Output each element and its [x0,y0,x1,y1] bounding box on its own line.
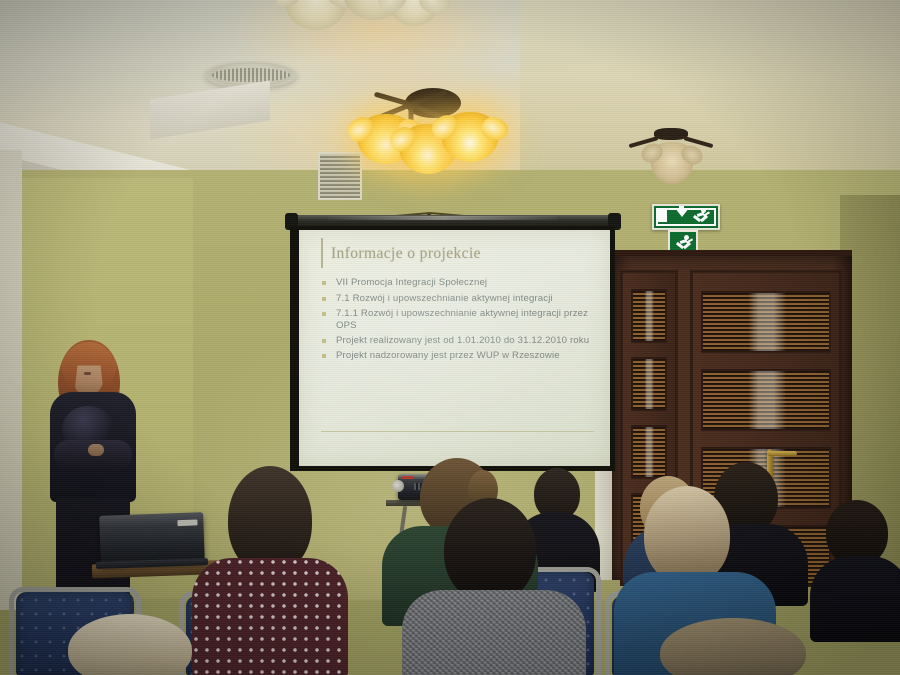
audience-member [68,614,198,675]
screen-surface: Informacje o projekcie VII Promocja Inte… [299,230,610,466]
door-glass-panel [701,291,831,353]
bullet-square-icon [322,339,326,343]
slide-bullet-item: 7.1.1 Rozwój i upowszechnianie aktywnej … [321,308,594,332]
bullet-square-icon [322,281,326,285]
presenter-hand [88,444,104,456]
slide-title: Informacje o projekcie [331,244,594,263]
audience-shoulders [402,590,586,675]
door-glass-panel [701,369,831,431]
presentation-room-photo: Informacje o projekcie VII Promocja Inte… [0,0,900,675]
ceiling-lamp-upper [285,0,425,42]
audience-head [444,498,536,602]
slide: Informacje o projekcie VII Promocja Inte… [299,230,610,466]
slide-bullet-item: Projekt nadzorowany jest przez WUP w Rze… [321,350,594,362]
audience-member [660,618,810,675]
bullet-square-icon [322,297,326,301]
laptop-badge [177,519,197,526]
door-glass-panel [631,289,667,343]
exit-door-icon [658,209,667,222]
bullet-text: VII Promocja Integracji Społecznej [336,277,487,288]
exit-sign [652,204,720,230]
projection-screen: Informacje o projekcie VII Promocja Inte… [290,226,615,471]
slide-bullet-item: 7.1 Rozwój i upowszechnianie aktywnej in… [321,293,594,305]
left-wall-pillar [0,150,22,610]
running-man-icon-small [675,235,693,251]
wall-sconce-lamp [628,128,718,188]
door-glass-panel [631,357,667,411]
slide-bullet-list: VII Promocja Integracji Społecznej 7.1 R… [321,277,594,362]
audience-head [660,618,806,675]
bullet-square-icon [322,312,326,316]
running-man-icon [692,208,710,224]
ceiling-lamp-main [355,88,505,168]
audience-member [208,466,332,675]
slide-title-block: Informacje o projekcie [321,244,594,263]
audience-member [818,500,900,640]
audience-head [68,614,192,675]
audience-member [418,498,566,675]
audience-head [644,486,730,584]
door-handle-lever[interactable] [767,451,797,456]
audience-shoulders [810,556,900,642]
bullet-text: 7.1.1 Rozwój i upowszechnianie aktywnej … [336,308,588,331]
bullet-text: 7.1 Rozwój i upowszechnianie aktywnej in… [336,293,553,304]
audience-shoulders [192,558,348,675]
slide-title-accent-bar [321,238,323,268]
bullet-square-icon [322,354,326,358]
slide-bullet-item: Projekt realizowany jest od 1.01.2010 do… [321,335,594,347]
bullet-text: Projekt nadzorowany jest przez WUP w Rze… [336,350,560,361]
bullet-text: Projekt realizowany jest od 1.01.2010 do… [336,335,589,346]
slide-footer-rule [321,431,594,432]
slide-bullet-item: VII Promocja Integracji Społecznej [321,277,594,289]
